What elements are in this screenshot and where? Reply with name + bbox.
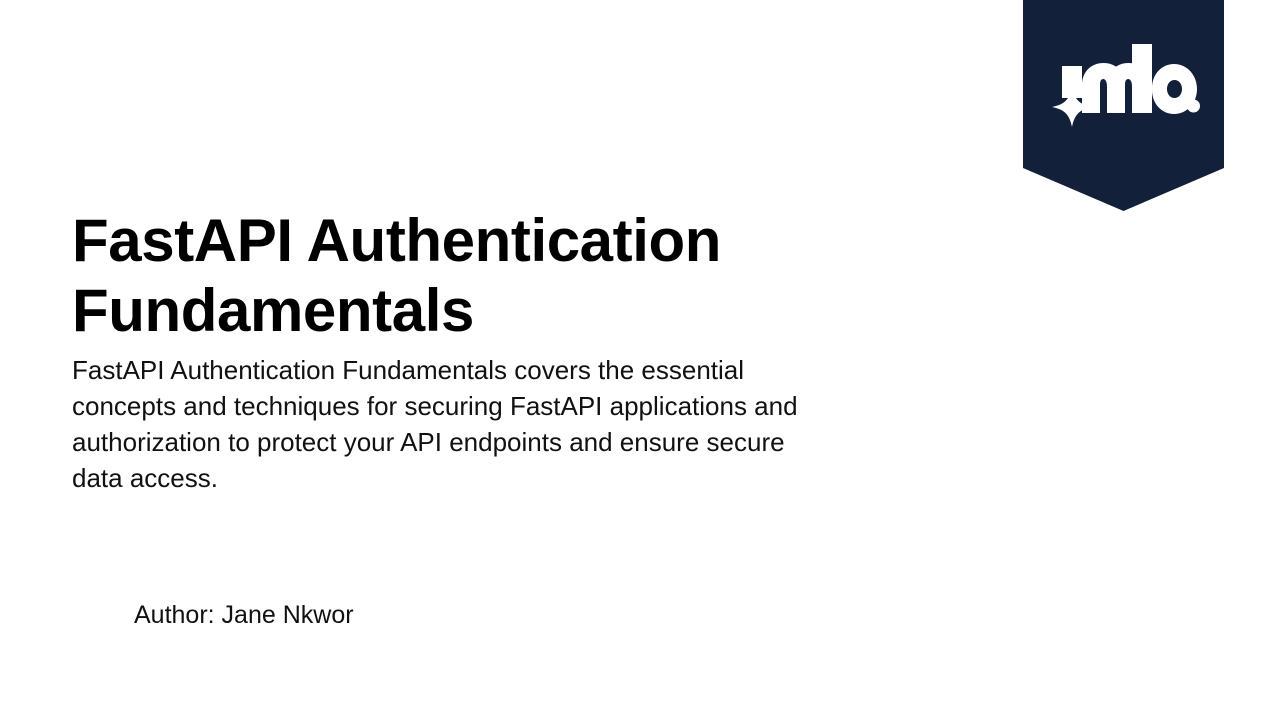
slide-canvas: FastAPI Authentication Fundamentals Fast…: [0, 0, 1280, 720]
slide-description: FastAPI Authentication Fundamentals cove…: [72, 346, 832, 496]
period-dot: [1187, 100, 1200, 113]
logo-wordmark: [1023, 0, 1224, 170]
page-title: FastAPI Authentication Fundamentals: [72, 206, 732, 346]
text-content: FastAPI Authentication Fundamentals Fast…: [72, 206, 842, 496]
letter-b: [1132, 44, 1197, 114]
author-label: Author: Jane Nkwor: [134, 598, 354, 632]
